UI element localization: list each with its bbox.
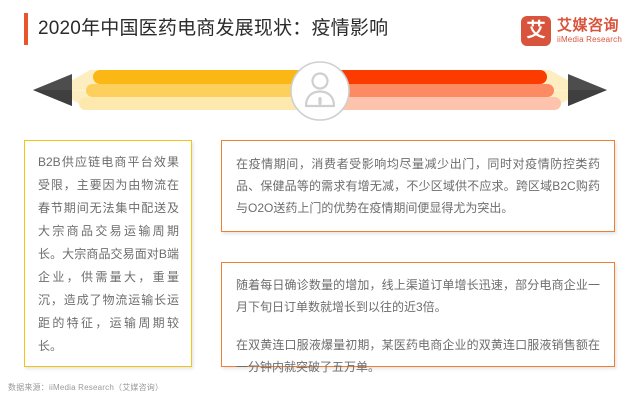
brand-logo: 艾 艾媒咨询 iiMedia Research [521, 15, 622, 47]
info-box-bottom-right: 随着每日确诊数量的增加，线上渠道订单增长迅速，部分电商企业一月下旬日订单数就增长… [221, 262, 615, 367]
page-header: 2020年中国医药电商发展现状：疫情影响 艾 艾媒咨询 iiMedia Rese… [0, 0, 640, 58]
yellow-pencil-band-2 [86, 84, 305, 97]
info-box-top-right: 在疫情期间，消费者受影响均尽量减少出门，同时对疫情防控类药品、保健品等的需求有增… [221, 140, 615, 232]
yellow-pencil-tip-shade [33, 90, 72, 106]
page-title: 2020年中国医药电商发展现状：疫情影响 [38, 14, 388, 44]
yellow-pencil-band-1 [93, 70, 305, 84]
yellow-pencil-band-3 [79, 97, 305, 110]
info-box-top-right-text: 在疫情期间，消费者受影响均尽量减少出门，同时对疫情防控类药品、保健品等的需求有增… [236, 153, 600, 219]
data-source-note: 数据来源：iiMedia Research（艾媒咨询） [8, 382, 163, 394]
logo-name-en: iiMedia Research [557, 34, 622, 45]
pencil-illustration [0, 58, 640, 124]
yellow-pencil [33, 70, 305, 110]
user-badge [291, 62, 349, 120]
pencil-banner [0, 58, 640, 124]
info-box-left-text: B2B供应链电商平台效果受限，主要因为由物流在春节期间无法集中配送及大宗商品交易… [38, 151, 179, 358]
red-pencil-tip-shade [568, 90, 607, 106]
info-box-bottom-right-paragraph-1: 随着每日确诊数量的增加，线上渠道订单增长迅速，部分电商企业一月下旬日订单数就增长… [236, 274, 600, 318]
logo-mark-icon: 艾 [521, 16, 551, 46]
red-pencil-band-2 [335, 84, 554, 97]
red-pencil-band-1 [335, 70, 547, 84]
info-box-left: B2B供应链电商平台效果受限，主要因为由物流在春节期间无法集中配送及大宗商品交易… [24, 140, 192, 367]
user-icon-tie [318, 97, 321, 105]
logo-name-cn: 艾媒咨询 [557, 18, 622, 34]
title-accent-bar [24, 13, 28, 45]
red-pencil [335, 70, 607, 110]
red-pencil-band-3 [335, 97, 561, 110]
info-box-bottom-right-paragraph-2: 在双黄连口服液爆量初期，某医药电商企业的双黄连口服液销售额在一分钟内就突破了五万… [236, 334, 600, 378]
logo-text: 艾媒咨询 iiMedia Research [557, 18, 622, 45]
